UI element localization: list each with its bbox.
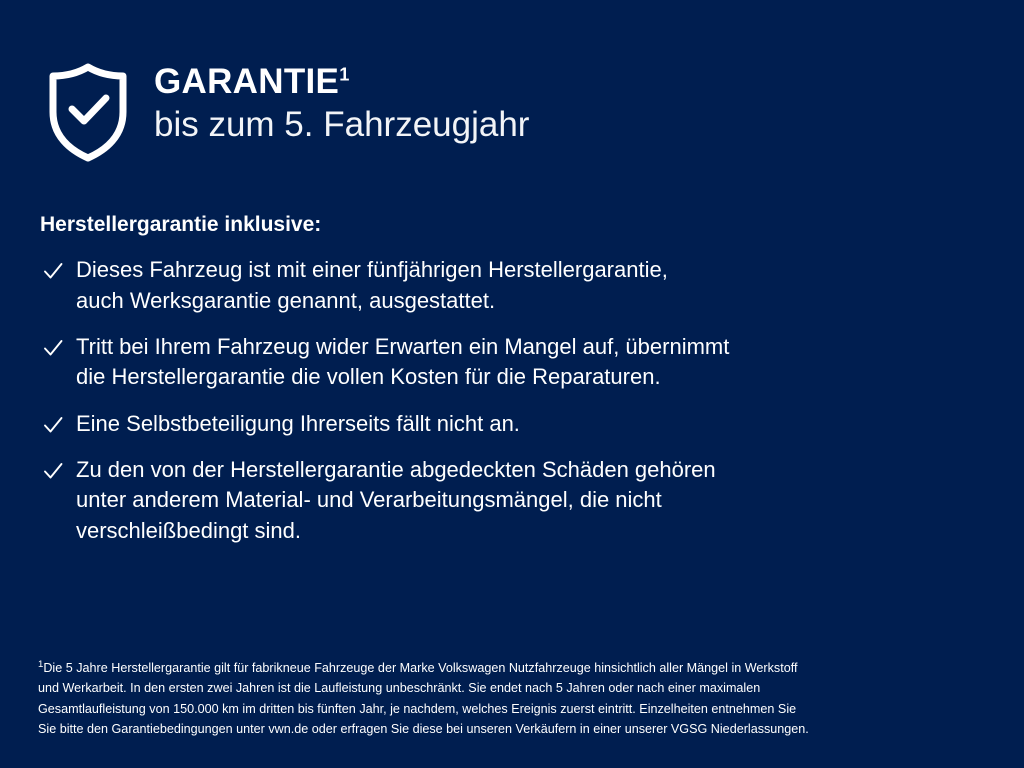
list-item-line: Zu den von der Herstellergarantie abgede… — [76, 455, 970, 485]
list-item-line: die Herstellergarantie die vollen Kosten… — [76, 362, 970, 392]
list-item-line: Tritt bei Ihrem Fahrzeug wider Erwarten … — [76, 332, 970, 362]
check-icon — [42, 260, 64, 282]
footnote-line: Gesamtlaufleistung von 150.000 km im dri… — [38, 699, 994, 719]
list-item-line: Dieses Fahrzeug ist mit einer fünfjährig… — [76, 255, 970, 285]
warranty-slide: GARANTIE1 bis zum 5. Fahrzeugjahr Herste… — [0, 0, 1024, 768]
footnote-line-text: Die 5 Jahre Herstellergarantie gilt für … — [43, 661, 797, 675]
list-item-line: auch Werksgarantie genannt, ausgestattet… — [76, 286, 970, 316]
footnote-line: 1Die 5 Jahre Herstellergarantie gilt für… — [38, 658, 994, 678]
header-text: GARANTIE1 bis zum 5. Fahrzeugjahr — [154, 58, 529, 144]
list-item: Dieses Fahrzeug ist mit einer fünfjährig… — [40, 255, 970, 316]
page-subtitle: bis zum 5. Fahrzeugjahr — [154, 105, 529, 144]
page-title-text: GARANTIE — [154, 62, 339, 101]
benefits-list: Dieses Fahrzeug ist mit einer fünfjährig… — [40, 255, 970, 546]
footnote: 1Die 5 Jahre Herstellergarantie gilt für… — [38, 658, 994, 740]
page-title: GARANTIE1 — [154, 64, 529, 99]
list-item: Zu den von der Herstellergarantie abgede… — [40, 455, 970, 546]
footnote-line: und Werkarbeit. In den ersten zwei Jahre… — [38, 678, 994, 698]
list-item: Eine Selbstbeteiligung Ihrerseits fällt … — [40, 409, 970, 439]
list-item-line: verschleißbedingt sind. — [76, 516, 970, 546]
title-footnote-marker: 1 — [339, 64, 349, 84]
shield-check-icon — [40, 60, 136, 164]
list-item-line: Eine Selbstbeteiligung Ihrerseits fällt … — [76, 409, 970, 439]
check-icon — [42, 460, 64, 482]
header: GARANTIE1 bis zum 5. Fahrzeugjahr — [40, 58, 529, 164]
check-icon — [42, 337, 64, 359]
content-block: Herstellergarantie inklusive: Dieses Fah… — [40, 212, 970, 546]
list-item-line: unter anderem Material- und Verarbeitung… — [76, 485, 970, 515]
content-lead: Herstellergarantie inklusive: — [40, 212, 970, 237]
list-item: Tritt bei Ihrem Fahrzeug wider Erwarten … — [40, 332, 970, 393]
check-icon — [42, 414, 64, 436]
footnote-line: Sie bitte den Garantiebedingungen unter … — [38, 719, 994, 739]
